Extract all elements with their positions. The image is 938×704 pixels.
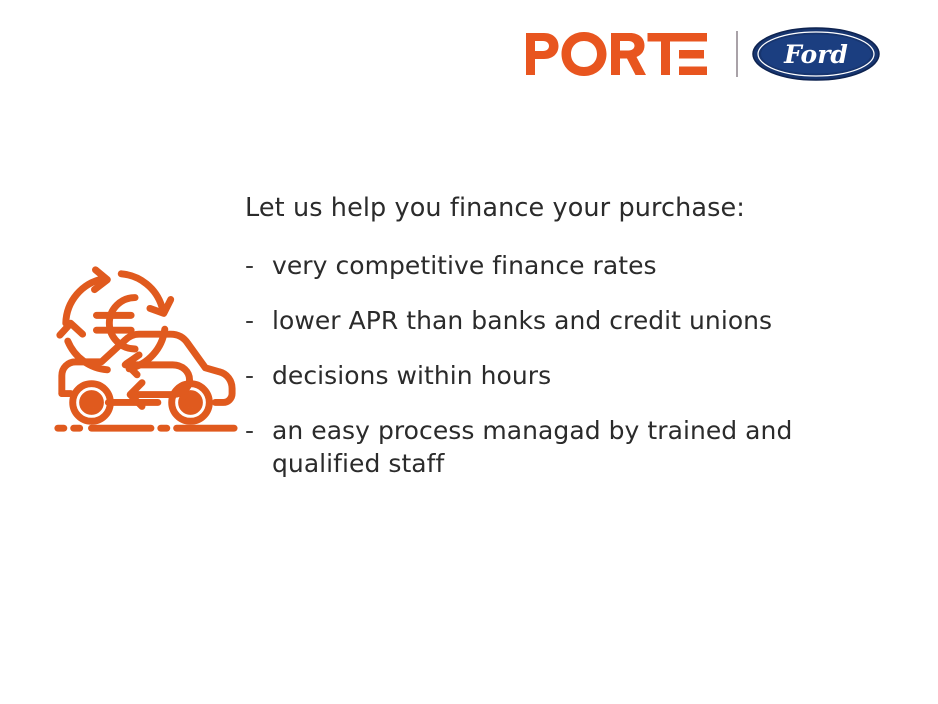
ford-script-text: Ford (783, 40, 848, 69)
list-item: - very competitive finance rates (245, 249, 885, 282)
bullet-marker: - (245, 359, 272, 392)
list-item: - lower APR than banks and credit unions (245, 304, 885, 337)
brand-lockup: Ford (526, 24, 880, 84)
page-title: Let us help you finance your purchase: (245, 193, 885, 224)
bullet-marker: - (245, 304, 272, 337)
ford-logo: Ford (752, 26, 880, 82)
list-item: - an easy process managad by trained and… (245, 414, 885, 480)
presentation-slide: Ford (0, 0, 938, 704)
list-item: - decisions within hours (245, 359, 885, 392)
bullet-marker: - (245, 249, 272, 282)
euro-symbol-icon (96, 298, 135, 349)
finance-icon-graphic (44, 252, 242, 448)
benefits-list: - very competitive finance rates - lower… (245, 249, 885, 480)
list-item-label: lower APR than banks and credit unions (272, 304, 857, 337)
list-item-label: an easy process managad by trained and q… (272, 414, 857, 480)
porter-wordmark-glyphs (526, 31, 722, 77)
bullet-marker: - (245, 414, 272, 447)
brand-divider (736, 31, 738, 77)
car-finance-euro-icon (44, 252, 242, 448)
list-item-label: decisions within hours (272, 359, 857, 392)
slide-content: Let us help you finance your purchase: -… (245, 193, 885, 480)
porter-logo (526, 31, 722, 77)
list-item-label: very competitive finance rates (272, 249, 857, 282)
